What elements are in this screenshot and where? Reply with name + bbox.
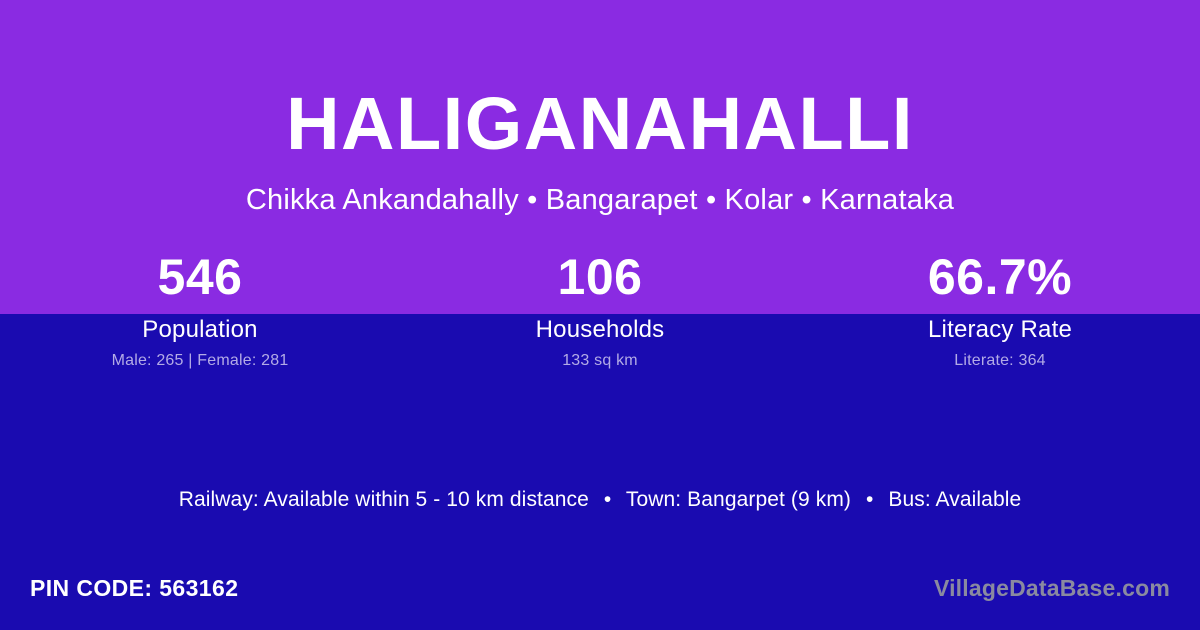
brand-watermark: VillageDataBase.com: [934, 572, 1170, 604]
amenity-bus: Bus: Available: [888, 488, 1021, 511]
stat-sublabel: 133 sq km: [400, 351, 800, 371]
stat-literacy-rate: 66.7% Literacy Rate Literate: 364: [800, 240, 1200, 371]
card-footer: PIN CODE: 563162 VillageDataBase.com: [0, 572, 1200, 614]
amenities-summary: Railway: Available within 5 - 10 km dist…: [0, 486, 1200, 514]
stat-households: 106 Households 133 sq km: [400, 240, 800, 371]
amenity-separator: •: [595, 486, 620, 514]
amenity-railway: Railway: Available within 5 - 10 km dist…: [179, 488, 589, 511]
page-title: HALIGANAHALLI: [0, 83, 1200, 165]
stat-label: Population: [0, 316, 400, 344]
stat-value: 546: [0, 240, 400, 314]
village-info-card: HALIGANAHALLI Chikka Ankandahally • Bang…: [0, 0, 1200, 630]
location-breadcrumb: Chikka Ankandahally • Bangarapet • Kolar…: [0, 183, 1200, 217]
stats-row: 546 Population Male: 265 | Female: 281 1…: [0, 240, 1200, 371]
stat-label: Literacy Rate: [800, 316, 1200, 344]
stat-sublabel: Male: 265 | Female: 281: [0, 351, 400, 371]
stat-label: Households: [400, 316, 800, 344]
stat-sublabel: Literate: 364: [800, 351, 1200, 371]
stat-population: 546 Population Male: 265 | Female: 281: [0, 240, 400, 371]
amenity-separator: •: [857, 486, 882, 514]
amenity-town: Town: Bangarpet (9 km): [626, 488, 851, 511]
stat-value: 106: [400, 240, 800, 314]
pin-code-label: PIN CODE: 563162: [30, 572, 238, 604]
stat-value: 66.7%: [800, 240, 1200, 314]
